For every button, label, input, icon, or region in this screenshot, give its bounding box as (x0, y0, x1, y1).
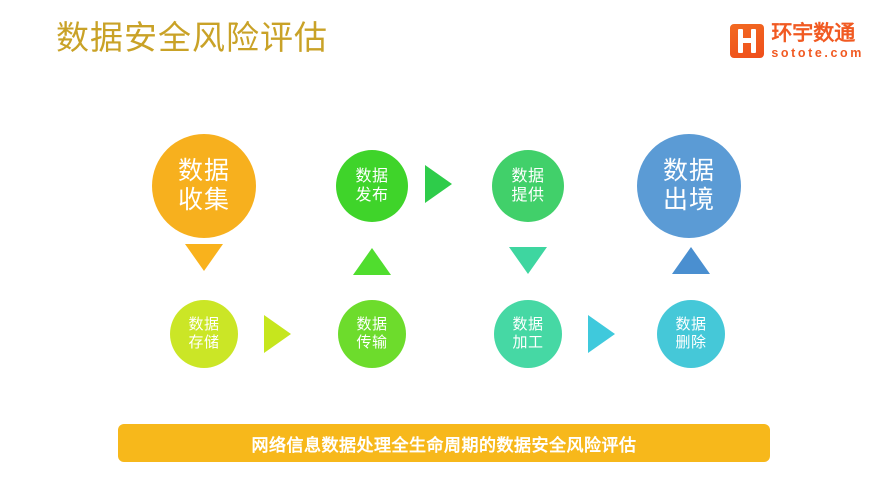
flow-node-collect[interactable]: 数据收集 (152, 134, 256, 238)
flow-node-label-line2: 发布 (355, 186, 388, 205)
flow-node-label-line2: 存储 (188, 334, 219, 352)
flow-node-label-line1: 数据 (512, 316, 543, 334)
flow-arrow-transmit-to-publish (353, 248, 391, 275)
brand-logo-text: 环宇数通 sotote.com (771, 23, 864, 60)
h-logo-crossbar (738, 38, 756, 43)
flow-node-label-line1: 数据 (356, 316, 387, 334)
flow-node-label-line1: 数据 (511, 167, 544, 186)
footer-banner: 网络信息数据处理全生命周期的数据安全风险评估 (118, 424, 770, 462)
footer-banner-label: 网络信息数据处理全生命周期的数据安全风险评估 (252, 431, 637, 456)
flow-arrow-provide-to-process (509, 247, 547, 274)
flow-node-label-line1: 数据 (663, 157, 715, 186)
flow-node-label-line1: 数据 (188, 316, 219, 334)
flow-arrow-process-to-delete (588, 315, 615, 353)
flow-node-export[interactable]: 数据出境 (637, 134, 741, 238)
brand-logo: 环宇数通 sotote.com (730, 18, 864, 64)
flow-node-transmit[interactable]: 数据传输 (338, 300, 406, 368)
flow-node-label-line2: 传输 (356, 334, 387, 352)
flow-node-label-line2: 出境 (663, 186, 715, 215)
flow-arrow-store-to-transmit (264, 315, 291, 353)
flow-node-process[interactable]: 数据加工 (494, 300, 562, 368)
brand-name-cn: 环宇数通 (771, 23, 864, 44)
h-logo-icon (730, 24, 764, 58)
flow-node-store[interactable]: 数据存储 (170, 300, 238, 368)
flow-node-label-line2: 提供 (511, 186, 544, 205)
flow-node-publish[interactable]: 数据发布 (336, 150, 408, 222)
page-title: 数据安全风险评估 (56, 16, 328, 60)
slide-header: 数据安全风险评估 环宇数通 sotote.com (0, 0, 888, 92)
flow-node-label-line2: 加工 (512, 334, 543, 352)
flow-arrow-publish-to-provide (425, 165, 452, 203)
flow-node-label-line2: 收集 (178, 186, 230, 215)
flow-node-label-line2: 删除 (675, 334, 706, 352)
lifecycle-flow-diagram: 数据收集数据发布数据提供数据出境数据存储数据传输数据加工数据删除 (0, 92, 888, 412)
flow-node-label-line1: 数据 (178, 157, 230, 186)
flow-node-delete[interactable]: 数据删除 (657, 300, 725, 368)
flow-node-label-line1: 数据 (675, 316, 706, 334)
flow-node-provide[interactable]: 数据提供 (492, 150, 564, 222)
brand-name-en: sotote.com (771, 47, 864, 60)
flow-arrow-delete-to-export (672, 247, 710, 274)
flow-arrow-collect-to-store (185, 244, 223, 271)
flow-node-label-line1: 数据 (355, 167, 388, 186)
